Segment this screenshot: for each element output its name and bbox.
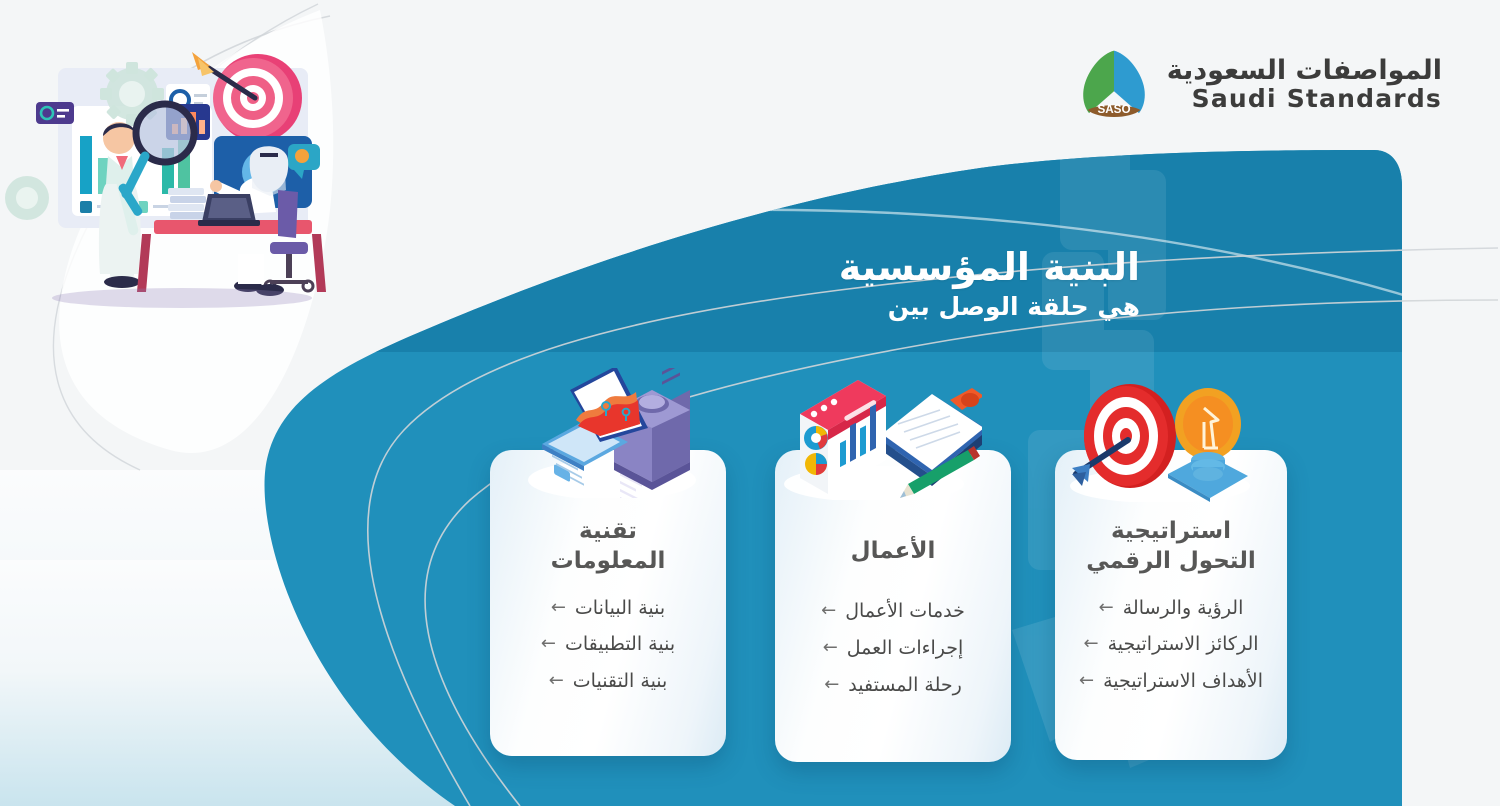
list-item[interactable]: بنية التطبيقات ← [541,633,675,657]
card-title-line2: المعلومات [504,546,712,576]
infographic-canvas: المواصفات السعودية Saudi Standards SASO … [0,0,1500,806]
card-item-list: خدمات الأعمال ← إجراءات العمل ← رحلة الم… [775,600,1011,697]
arrow-left-icon: ← [824,676,839,694]
card-item-list: الرؤية والرسالة ← الركائز الاستراتيجية ←… [1055,597,1287,694]
list-item[interactable]: خدمات الأعمال ← [821,600,965,624]
arrow-left-icon: ← [1083,635,1098,653]
arrow-left-icon: ← [551,599,566,617]
card-digital-transformation-strategy[interactable]: استراتيجية التحول الرقمي الرؤية والرسالة… [1055,450,1287,760]
arrow-left-icon: ← [549,672,564,690]
arrow-left-icon: ← [821,602,836,620]
list-item-label: الأهداف الاستراتيجية [1103,670,1263,694]
list-item[interactable]: بنية التقنيات ← [549,670,668,694]
logo-arabic-text: المواصفات السعودية [1167,57,1442,86]
arrow-left-icon: ← [1099,599,1114,617]
list-item-label: الرؤية والرسالة [1123,597,1244,621]
logo-english-text: Saudi Standards [1167,86,1442,113]
list-item-label: رحلة المستفيد [848,674,962,698]
list-item-label: بنية البيانات [575,597,665,621]
card-title-line2: التحول الرقمي [1069,546,1273,576]
arrow-left-icon: ← [1079,672,1094,690]
list-item[interactable]: الرؤية والرسالة ← [1099,597,1244,621]
arrow-left-icon: ← [541,635,556,653]
card-title: استراتيجية التحول الرقمي [1055,516,1287,577]
card-title-line1: استراتيجية [1069,516,1273,546]
card-title: الأعمال [775,536,1011,566]
card-title-line1: الأعمال [789,536,997,566]
card-item-list: بنية البيانات ← بنية التطبيقات ← بنية ال… [490,597,726,694]
saso-triangle-logo-icon: SASO [1075,46,1153,124]
list-item[interactable]: الأهداف الاستراتيجية ← [1079,670,1263,694]
list-item[interactable]: بنية البيانات ← [551,597,665,621]
page-title: البنية المؤسسية [0,246,1320,289]
card-information-technology[interactable]: تقنية المعلومات بنية البيانات ← بنية الت… [490,450,726,756]
list-item-label: إجراءات العمل [847,637,964,661]
arrow-left-icon: ← [823,639,838,657]
list-item-label: بنية التطبيقات [565,633,675,657]
logo-text-block: المواصفات السعودية Saudi Standards [1167,57,1442,112]
list-item-label: بنية التقنيات [573,670,668,694]
list-item[interactable]: رحلة المستفيد ← [824,674,962,698]
card-business[interactable]: الأعمال خدمات الأعمال ← إجراءات العمل ← … [775,450,1011,762]
page-subtitle: هي حلقة الوصل بين [0,292,1320,322]
card-title-line1: تقنية [504,516,712,546]
title-block: البنية المؤسسية هي حلقة الوصل بين [0,246,1320,322]
list-item[interactable]: إجراءات العمل ← [823,637,964,661]
card-title: تقنية المعلومات [490,516,726,577]
list-item-label: خدمات الأعمال [845,600,965,624]
list-item[interactable]: الركائز الاستراتيجية ← [1083,633,1258,657]
logo-badge-text: SASO [1097,103,1130,116]
saso-logo: المواصفات السعودية Saudi Standards SASO [1075,46,1442,124]
list-item-label: الركائز الاستراتيجية [1108,633,1259,657]
